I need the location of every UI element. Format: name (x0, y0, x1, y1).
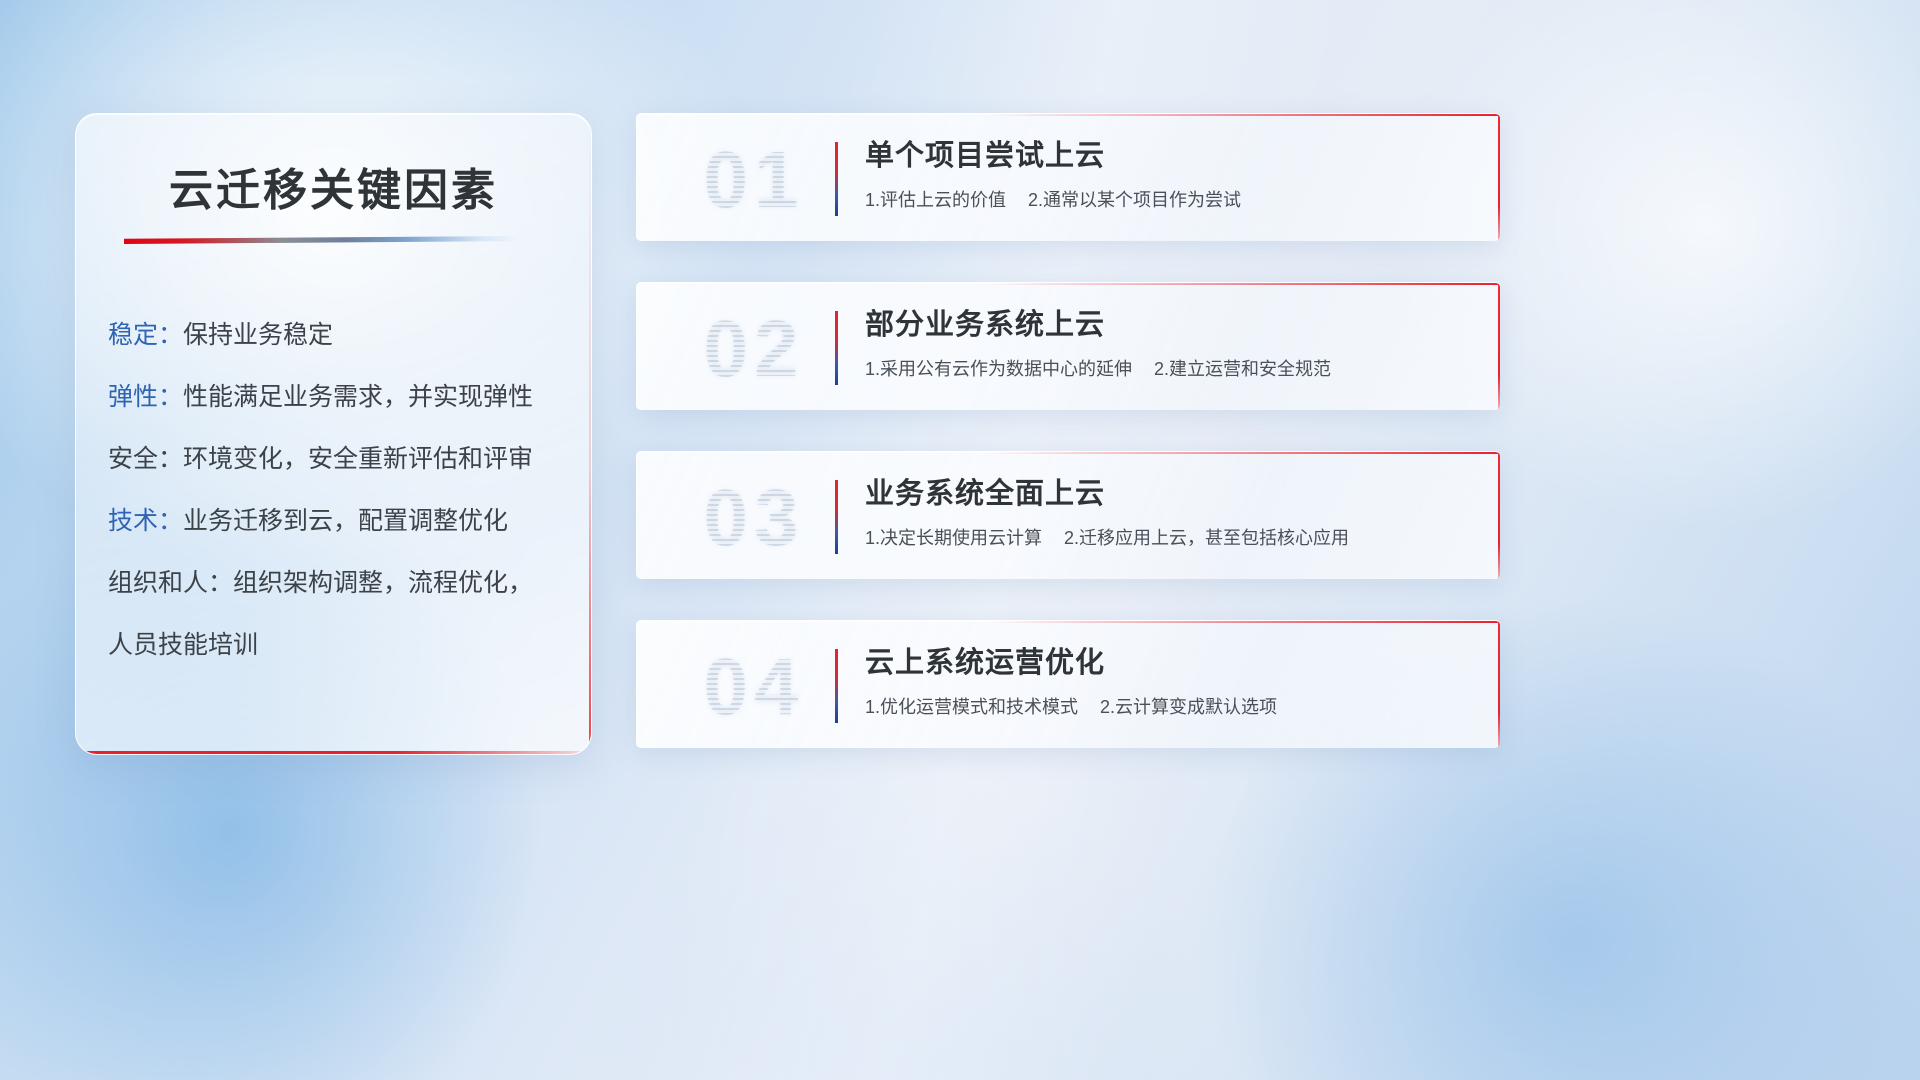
card-body: 业务系统全面上云 1.决定长期使用云计算2.迁移应用上云，甚至包括核心应用 (865, 474, 1474, 551)
list-item: 安全：环境变化，安全重新评估和评审 (108, 428, 571, 490)
card-body: 单个项目尝试上云 1.评估上云的价值2.通常以某个项目作为尝试 (865, 136, 1474, 213)
card-divider-rule (835, 649, 838, 723)
list-item-text: 环境变化，安全重新评估和评审 (183, 445, 533, 473)
stage-card[interactable]: 01 01 单个项目尝试上云 1.评估上云的价值2.通常以某个项目作为尝试 (636, 113, 1500, 241)
card-subtitle: 1.决定长期使用云计算2.迁移应用上云，甚至包括核心应用 (865, 525, 1474, 551)
list-item: 组织和人：组织架构调整，流程优化， (108, 552, 571, 614)
card-title: 云上系统运营优化 (865, 643, 1474, 683)
stage-number: 01 (659, 126, 849, 234)
card-subtitle: 1.优化运营模式和技术模式2.云计算变成默认选项 (865, 694, 1474, 720)
card-divider-rule (835, 142, 838, 216)
card-body: 云上系统运营优化 1.优化运营模式和技术模式2.云计算变成默认选项 (865, 643, 1474, 720)
list-item-text: 保持业务稳定 (183, 321, 333, 349)
card-subtitle: 1.采用公有云作为数据中心的延伸2.建立运营和安全规范 (865, 356, 1474, 382)
card-title: 业务系统全面上云 (865, 474, 1474, 514)
list-item-text: 人员技能培训 (108, 631, 258, 659)
stage-card[interactable]: 04 04 云上系统运营优化 1.优化运营模式和技术模式2.云计算变成默认选项 (636, 620, 1500, 748)
card-subtitle: 1.评估上云的价值2.通常以某个项目作为尝试 (865, 187, 1474, 213)
card-subtitle-part-1: 1.采用公有云作为数据中心的延伸 (865, 359, 1132, 379)
migration-stage-cards: 01 01 单个项目尝试上云 1.评估上云的价值2.通常以某个项目作为尝试 02… (636, 113, 1500, 789)
stage-card[interactable]: 03 03 业务系统全面上云 1.决定长期使用云计算2.迁移应用上云，甚至包括核… (636, 451, 1500, 579)
list-item: 稳定：保持业务稳定 (108, 304, 571, 366)
title-accent-bar (124, 236, 519, 244)
stage-number: 03 (659, 464, 849, 572)
card-body: 部分业务系统上云 1.采用公有云作为数据中心的延伸2.建立运营和安全规范 (865, 305, 1474, 382)
list-item: 技术：业务迁移到云，配置调整优化 (108, 490, 571, 552)
card-divider-rule (835, 480, 838, 554)
slide-stage: 云迁移关键因素 稳定：保持业务稳定 弹性：性能满足业务需求，并实现弹性 安全：环… (0, 0, 1920, 1080)
stage-number: 04 (659, 633, 849, 741)
list-item-text: 组织架构调整，流程优化， (233, 569, 533, 597)
key-factors-panel: 云迁移关键因素 稳定：保持业务稳定 弹性：性能满足业务需求，并实现弹性 安全：环… (75, 113, 592, 755)
card-subtitle-part-2: 2.建立运营和安全规范 (1154, 359, 1331, 379)
key-factors-list: 稳定：保持业务稳定 弹性：性能满足业务需求，并实现弹性 安全：环境变化，安全重新… (108, 304, 571, 676)
card-title: 部分业务系统上云 (865, 305, 1474, 345)
list-item-text: 业务迁移到云，配置调整优化 (183, 507, 508, 535)
card-subtitle-part-1: 1.评估上云的价值 (865, 190, 1006, 210)
list-item: 弹性：性能满足业务需求，并实现弹性 (108, 366, 571, 428)
page-title: 云迁移关键因素 (76, 154, 591, 218)
card-divider-rule (835, 311, 838, 385)
card-subtitle-part-2: 2.云计算变成默认选项 (1100, 697, 1277, 717)
card-subtitle-part-1: 1.优化运营模式和技术模式 (865, 697, 1078, 717)
list-item-label: 技术： (108, 507, 183, 535)
list-item-label: 组织和人： (108, 569, 233, 597)
card-subtitle-part-2: 2.迁移应用上云，甚至包括核心应用 (1064, 528, 1349, 548)
card-title: 单个项目尝试上云 (865, 136, 1474, 176)
list-item-text: 性能满足业务需求，并实现弹性 (183, 383, 533, 411)
card-subtitle-part-2: 2.通常以某个项目作为尝试 (1028, 190, 1241, 210)
list-item-label: 弹性： (108, 383, 183, 411)
card-subtitle-part-1: 1.决定长期使用云计算 (865, 528, 1042, 548)
stage-number: 02 (659, 295, 849, 403)
list-item-label: 安全： (108, 445, 183, 473)
list-item-continuation: 人员技能培训 (108, 614, 571, 676)
stage-card[interactable]: 02 02 部分业务系统上云 1.采用公有云作为数据中心的延伸2.建立运营和安全… (636, 282, 1500, 410)
list-item-label: 稳定： (108, 321, 183, 349)
